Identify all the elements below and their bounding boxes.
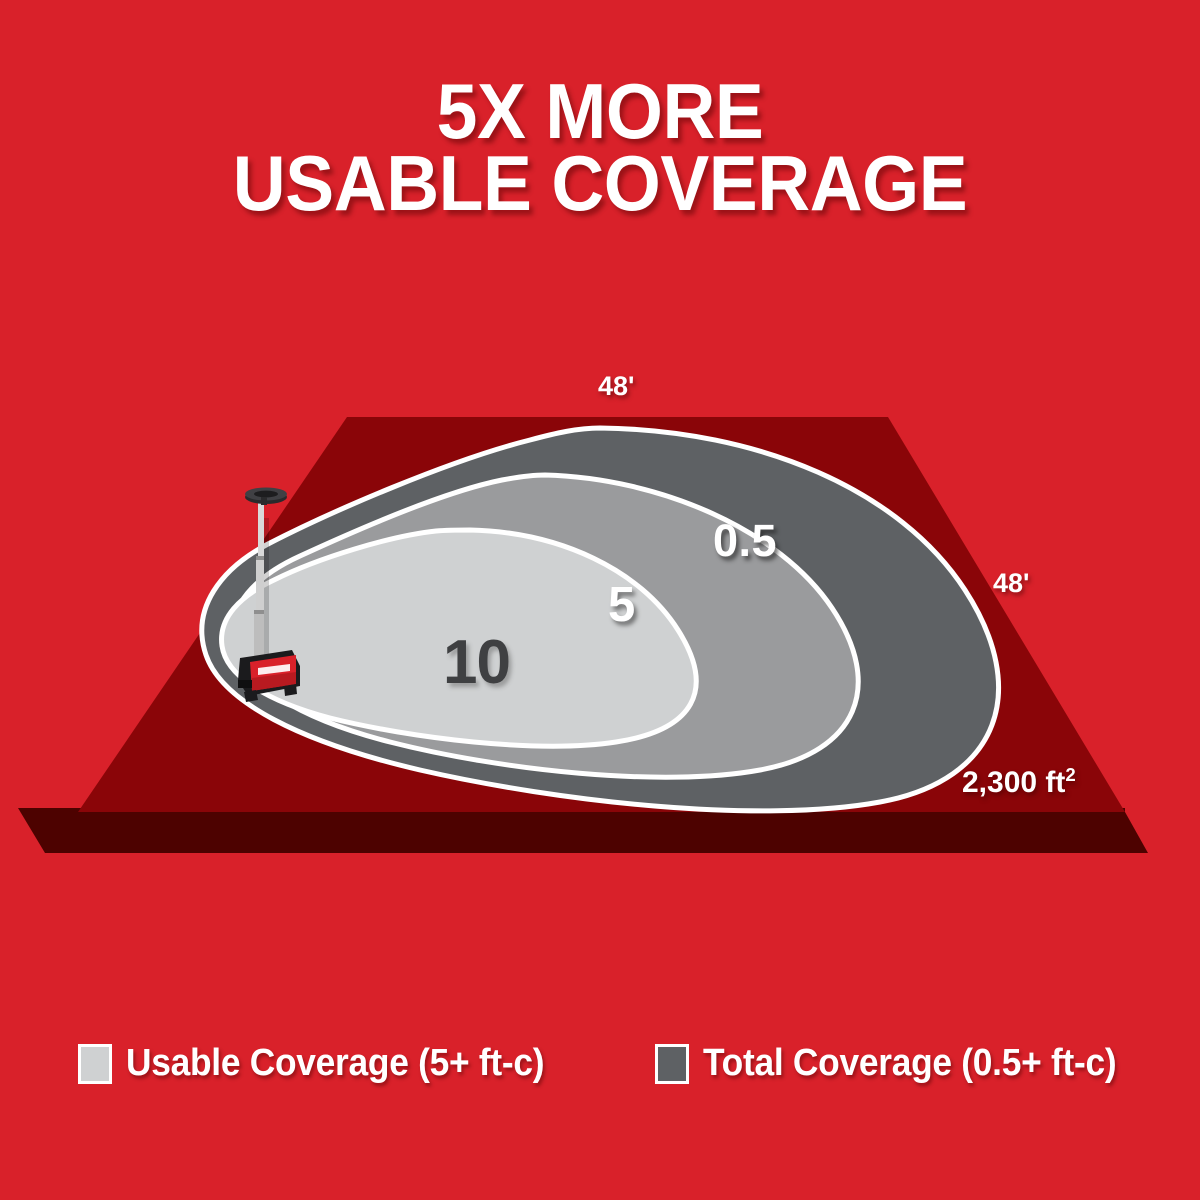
- area-label: 2,300 ft2: [962, 764, 1076, 800]
- legend-swatch-usable: [78, 1044, 112, 1084]
- headline-line-2: USABLE COVERAGE: [36, 148, 1164, 220]
- headline-line-1: 5X MORE: [36, 76, 1164, 148]
- zone-label-usable: 10: [443, 627, 510, 698]
- floor-slab-side: [18, 808, 1148, 853]
- zone-label-mid: 5: [608, 577, 635, 633]
- area-label-value: 2,300 ft: [962, 766, 1065, 799]
- coverage-infographic: 5X MORE USABLE COVERAGE: [0, 0, 1200, 1200]
- light-head: [245, 488, 287, 506]
- legend-item-total-coverage: Total Coverage (0.5+ ft-c): [655, 1042, 1147, 1085]
- legend-item-usable-coverage: Usable Coverage (5+ ft-c): [78, 1042, 576, 1085]
- mast-segment-mid: [256, 559, 264, 615]
- coverage-diagram: [0, 340, 1200, 900]
- dimension-label-depth: 48': [993, 568, 1029, 599]
- legend: Usable Coverage (5+ ft-c) Total Coverage…: [0, 1036, 1200, 1100]
- mast-segment-top: [258, 503, 264, 561]
- zone-label-total: 0.5: [713, 515, 777, 567]
- dimension-label-width: 48': [598, 371, 634, 402]
- mast-segment-low: [254, 613, 264, 657]
- page-title: 5X MORE USABLE COVERAGE: [0, 76, 1200, 220]
- legend-label-usable: Usable Coverage (5+ ft-c): [126, 1042, 544, 1085]
- legend-label-total: Total Coverage (0.5+ ft-c): [703, 1042, 1116, 1085]
- legend-swatch-total: [655, 1044, 689, 1084]
- area-label-superscript: 2: [1065, 764, 1075, 785]
